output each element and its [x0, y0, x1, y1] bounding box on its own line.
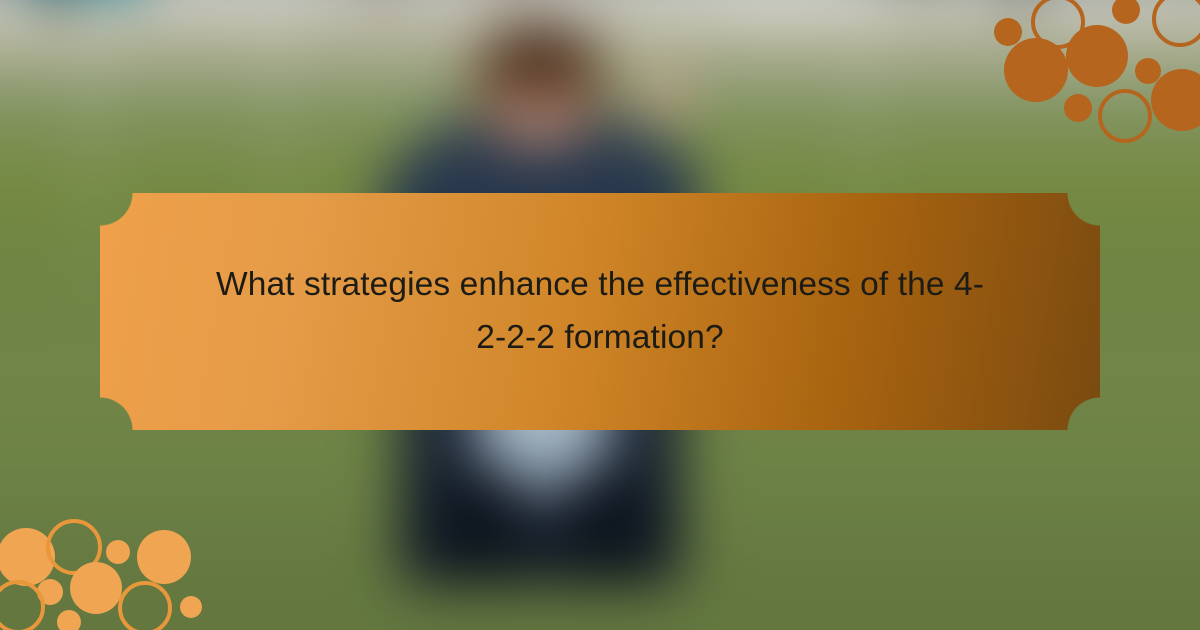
subject-hand: [642, 77, 691, 124]
social-quote-image: What strategies enhance the effectivenes…: [0, 0, 1200, 630]
subject-leg-left: [436, 469, 525, 586]
goal-post: [89, 0, 96, 303]
goal-post: [860, 0, 867, 219]
subject-hair: [464, 15, 615, 113]
quote-card: What strategies enhance the effectivenes…: [100, 193, 1100, 430]
subject-leg-right: [563, 469, 652, 586]
quote-text: What strategies enhance the effectivenes…: [212, 259, 988, 365]
